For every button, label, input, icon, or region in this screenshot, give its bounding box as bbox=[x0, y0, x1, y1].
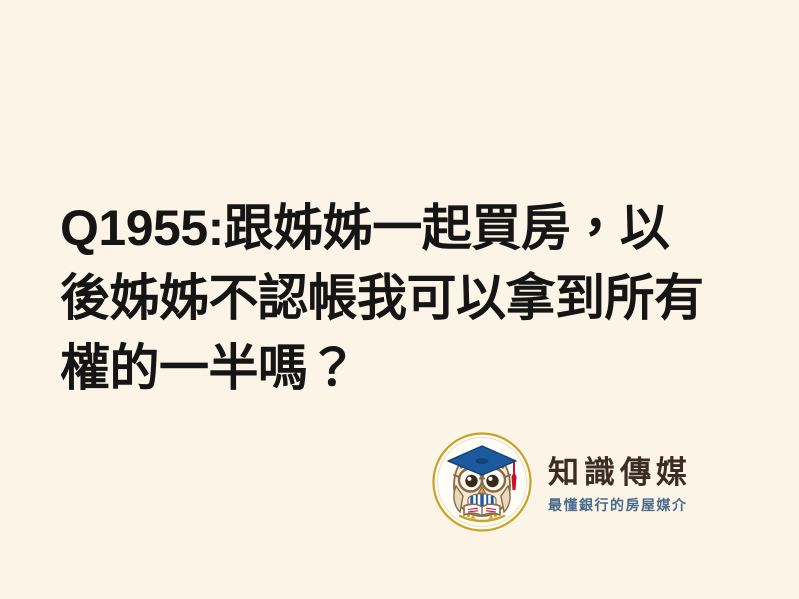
brand-name: 知識傳媒 bbox=[548, 455, 692, 491]
owl-graduate-icon bbox=[430, 430, 534, 534]
headline-line-1: Q1955:跟姊姊一起買房，以 bbox=[60, 193, 740, 263]
brand-wordmark: 知識傳媒 最懂銀行的房屋媒介 bbox=[548, 451, 692, 514]
page-title: Q1955:跟姊姊一起買房，以 後姊姊不認帳我可以拿到所有 權的一半嗎？ bbox=[60, 193, 740, 403]
brand-logo: 知識傳媒 最懂銀行的房屋媒介 bbox=[430, 428, 700, 536]
slide-canvas: Q1955:跟姊姊一起買房，以 後姊姊不認帳我可以拿到所有 權的一半嗎？ bbox=[0, 0, 799, 599]
headline-line-3: 權的一半嗎？ bbox=[60, 333, 740, 403]
headline-line-2: 後姊姊不認帳我可以拿到所有 bbox=[60, 263, 740, 333]
brand-tagline: 最懂銀行的房屋媒介 bbox=[548, 496, 688, 514]
